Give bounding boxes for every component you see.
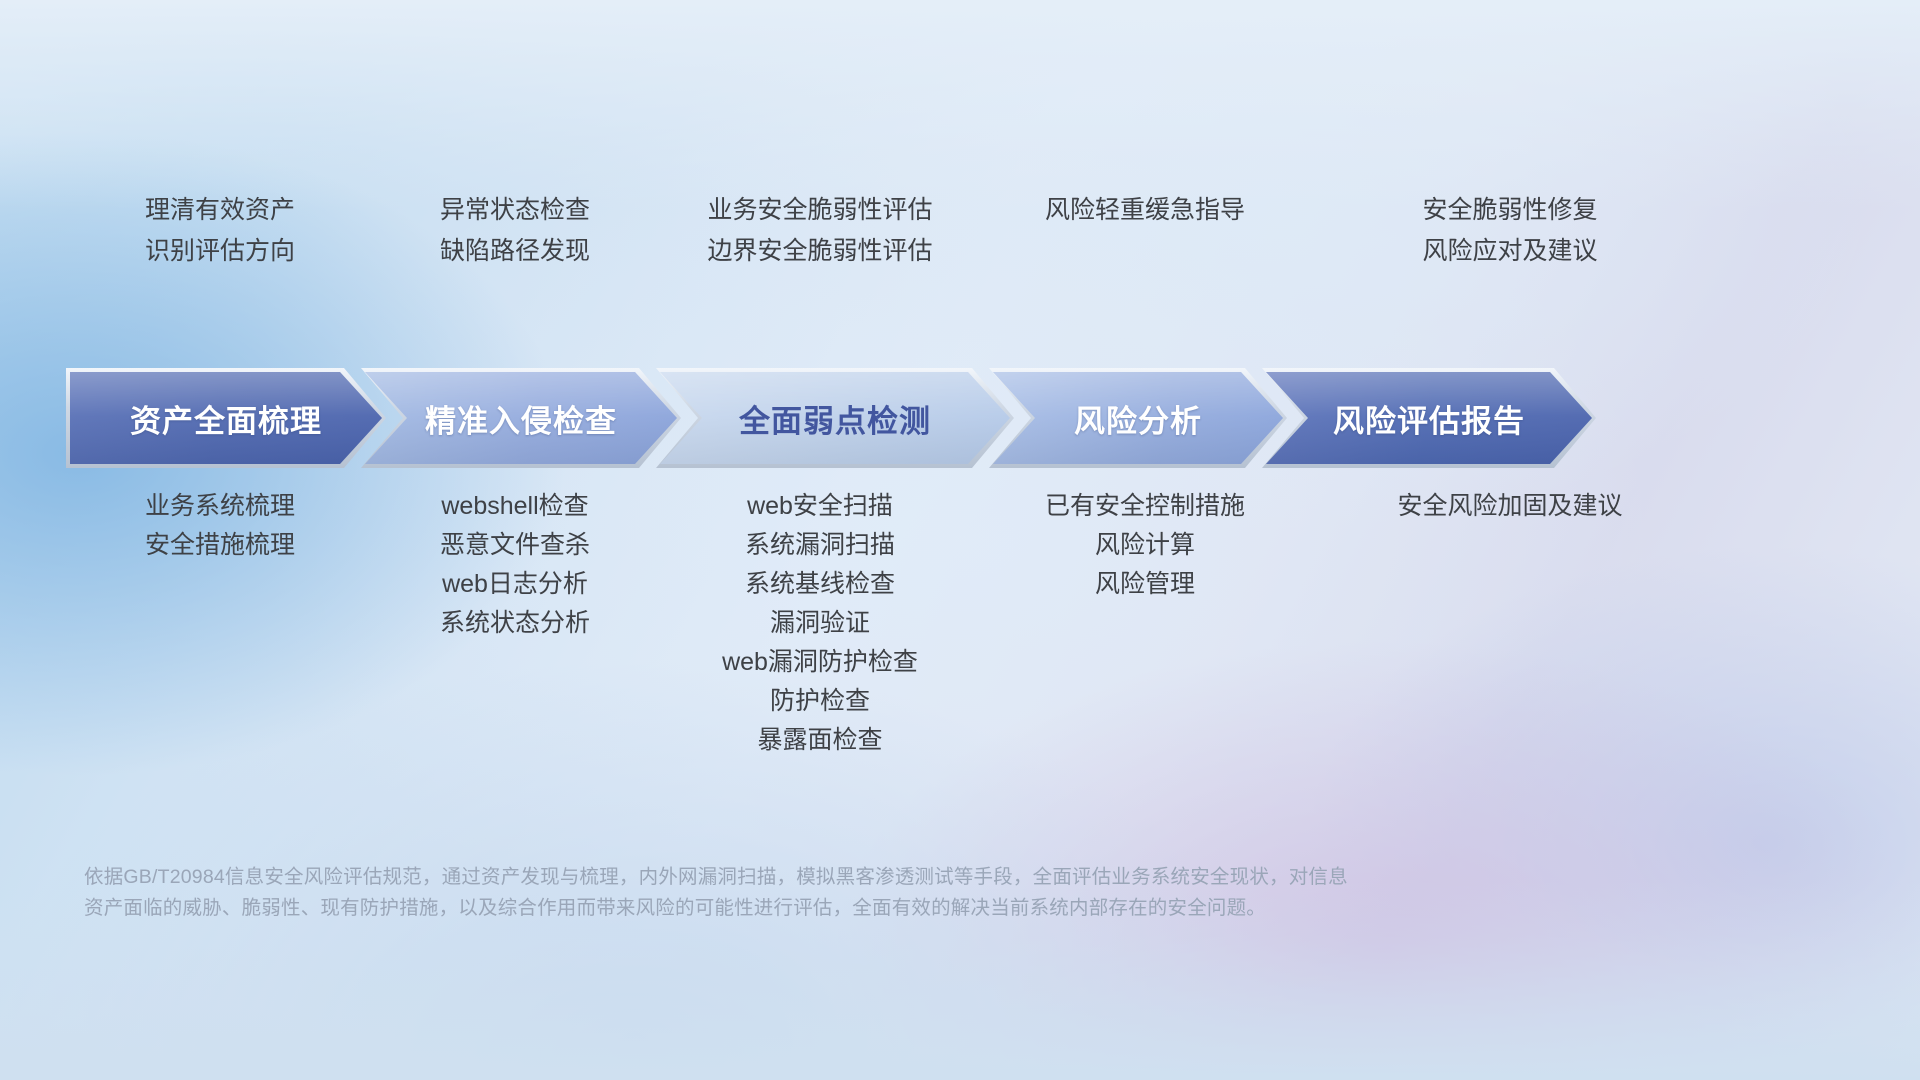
bottom-label: 系统基线检查 <box>655 565 985 604</box>
bottom-label: 风险计算 <box>1000 526 1290 565</box>
top-label: 业务安全脆弱性评估 <box>655 190 985 231</box>
chevron-label: 资产全面梳理 <box>130 396 322 441</box>
footer-description: 依据GB/T20984信息安全风险评估规范，通过资产发现与梳理，内外网漏洞扫描，… <box>84 862 1584 924</box>
footer-line-2: 资产面临的威胁、脆弱性、现有防护措施，以及综合作用而带来风险的可能性进行评估，全… <box>84 893 1584 924</box>
top-label: 风险应对及建议 <box>1345 231 1675 272</box>
bottom-label: 风险管理 <box>1000 565 1290 604</box>
top-labels-stage-3: 业务安全脆弱性评估 边界安全脆弱性评估 <box>655 190 985 272</box>
top-label: 安全脆弱性修复 <box>1345 190 1675 231</box>
chevron-stage-5[interactable]: 风险评估报告 <box>1266 372 1592 464</box>
bottom-labels-stage-3: web安全扫描 系统漏洞扫描 系统基线检查 漏洞验证 web漏洞防护检查 防护检… <box>655 487 985 760</box>
bottom-label: 已有安全控制措施 <box>1000 487 1290 526</box>
bottom-label: 安全措施梳理 <box>70 526 370 565</box>
bottom-label: web安全扫描 <box>655 487 985 526</box>
bottom-label: 系统状态分析 <box>370 604 660 643</box>
bottom-label: 系统漏洞扫描 <box>655 526 985 565</box>
top-labels-stage-4: 风险轻重缓急指导 <box>1000 190 1290 272</box>
bottom-label: 漏洞验证 <box>655 604 985 643</box>
top-label: 识别评估方向 <box>70 231 370 272</box>
chevron-stage-4[interactable]: 风险分析 <box>993 372 1283 464</box>
chevron-stage-3[interactable]: 全面弱点检测 <box>660 372 1010 464</box>
chevron-stage-2[interactable]: 精准入侵检查 <box>365 372 677 464</box>
bottom-label: 暴露面检查 <box>655 721 985 760</box>
chevron-label: 精准入侵检查 <box>425 396 617 441</box>
top-label: 风险轻重缓急指导 <box>1000 190 1290 231</box>
top-labels-stage-2: 异常状态检查 缺陷路径发现 <box>370 190 660 272</box>
footer-line-1: 依据GB/T20984信息安全风险评估规范，通过资产发现与梳理，内外网漏洞扫描，… <box>84 862 1584 893</box>
bottom-labels-row: 业务系统梳理 安全措施梳理 webshell检查 恶意文件查杀 web日志分析 … <box>70 487 1880 760</box>
top-labels-stage-5: 安全脆弱性修复 风险应对及建议 <box>1345 190 1675 272</box>
process-diagram: 理清有效资产 识别评估方向 异常状态检查 缺陷路径发现 业务安全脆弱性评估 边界… <box>0 0 1920 1080</box>
bottom-label: 业务系统梳理 <box>70 487 370 526</box>
top-label: 缺陷路径发现 <box>370 231 660 272</box>
top-labels-row: 理清有效资产 识别评估方向 异常状态检查 缺陷路径发现 业务安全脆弱性评估 边界… <box>70 190 1880 272</box>
bottom-labels-stage-4: 已有安全控制措施 风险计算 风险管理 <box>1000 487 1290 604</box>
bottom-label: web漏洞防护检查 <box>655 643 985 682</box>
top-label: 边界安全脆弱性评估 <box>655 231 985 272</box>
bottom-label: 防护检查 <box>655 682 985 721</box>
bottom-labels-stage-5: 安全风险加固及建议 <box>1345 487 1675 526</box>
top-label: 理清有效资产 <box>70 190 370 231</box>
bottom-label: 恶意文件查杀 <box>370 526 660 565</box>
chevron-stage-1[interactable]: 资产全面梳理 <box>70 372 382 464</box>
chevron-label: 全面弱点检测 <box>739 396 931 441</box>
top-label: 异常状态检查 <box>370 190 660 231</box>
bottom-label: 安全风险加固及建议 <box>1345 487 1675 526</box>
chevron-label: 风险评估报告 <box>1333 396 1525 441</box>
bottom-labels-stage-2: webshell检查 恶意文件查杀 web日志分析 系统状态分析 <box>370 487 660 643</box>
bottom-label: web日志分析 <box>370 565 660 604</box>
bottom-labels-stage-1: 业务系统梳理 安全措施梳理 <box>70 487 370 565</box>
chevron-band: 资产全面梳理 精准入侵检查 全面弱点检测 风险分析 风险评估报告 <box>70 372 1522 464</box>
top-labels-stage-1: 理清有效资产 识别评估方向 <box>70 190 370 272</box>
chevron-label: 风险分析 <box>1074 396 1202 441</box>
bottom-label: webshell检查 <box>370 487 660 526</box>
